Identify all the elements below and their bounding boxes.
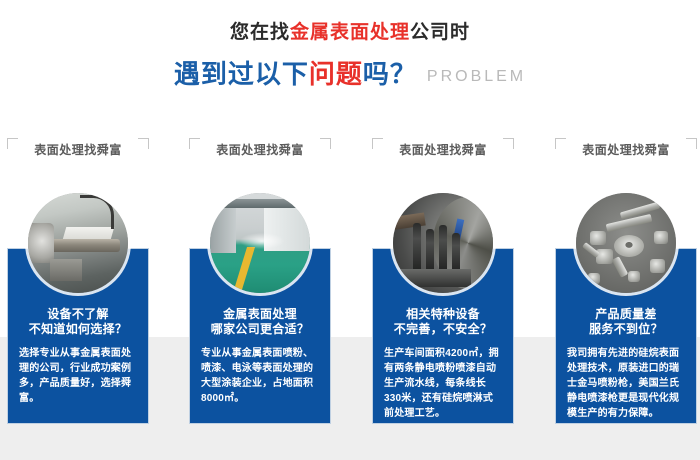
problem-card-row: 表面处理找舜富 设备不了解 不知道如何选择？ 选择专业从事金属表面处理的公司，行… (0, 136, 700, 436)
card-title: 相关特种设备 不完善，不安全？ (373, 307, 513, 337)
headline-line-2: 遇到过以下问题吗？PROBLEM (0, 57, 700, 96)
card-badge-label: 表面处理找舜富 (551, 141, 700, 158)
card-body-text: 生产车间面积4200㎡，拥有两条静电喷粉喷漆自动生产流水线，每条线长330米，还… (384, 346, 502, 421)
card-title-line-1: 相关特种设备 (373, 307, 513, 322)
page-headline: 您在找金属表面处理公司时 遇到过以下问题吗？PROBLEM (0, 18, 700, 96)
card-photo (393, 193, 493, 293)
card-badge: 表面处理找舜富 (3, 136, 153, 166)
headline-line1-highlight: 金属表面处理 (290, 22, 410, 43)
card-photo (576, 193, 676, 293)
card-title-line-2: 不知道如何选择？ (8, 322, 148, 337)
card-body-text: 专业从事金属表面喷粉、喷漆、电泳等表面处理的大型涂装企业，占地面积8000㎡。 (201, 346, 319, 406)
headline-line1-prefix: 您在找 (230, 22, 290, 43)
card-badge: 表面处理找舜富 (368, 136, 518, 166)
card-badge-label: 表面处理找舜富 (3, 141, 153, 158)
card-badge: 表面处理找舜富 (185, 136, 335, 166)
lathe-machining-photo (28, 193, 128, 293)
card-title-line-1: 产品质量差 (556, 307, 696, 322)
card-body-text: 选择专业从事金属表面处理的公司，行业成功案例多，产品质量好，选择舜富。 (19, 346, 137, 406)
card-photo (28, 193, 128, 293)
card-photo (210, 193, 310, 293)
card-badge-label: 表面处理找舜富 (368, 141, 518, 158)
card-title-line-1: 金属表面处理 (190, 307, 330, 322)
card-body-text: 我司拥有先进的硅烷表面处理技术，原装进口的瑞士金马喷粉枪，美国兰氏静电喷漆枪更是… (567, 346, 685, 421)
card-title: 产品质量差 服务不到位？ (556, 307, 696, 337)
card-title: 设备不了解 不知道如何选择？ (8, 307, 148, 337)
card-title-line-2: 不完善，不安全？ (373, 322, 513, 337)
card-badge-label: 表面处理找舜富 (185, 141, 335, 158)
problem-card[interactable]: 表面处理找舜富 相关特种设备 不完善，不安全？ 生产车间面积4200㎡，拥有两条… (366, 136, 520, 436)
card-title: 金属表面处理 哪家公司更合适？ (190, 307, 330, 337)
problem-card[interactable]: 表面处理找舜富 设备不了解 不知道如何选择？ 选择专业从事金属表面处理的公司，行… (1, 136, 155, 436)
metal-parts-equipment-photo (393, 193, 493, 293)
headline-english-label: PROBLEM (427, 68, 526, 85)
bolts-and-nuts-photo (576, 193, 676, 293)
headline-line2-prefix: 遇到过以下 (174, 59, 309, 89)
headline-line2-highlight: 问题 (309, 59, 363, 89)
headline-line2-suffix: 吗？ (363, 59, 417, 89)
card-title-line-2: 服务不到位？ (556, 322, 696, 337)
problem-card[interactable]: 表面处理找舜富 产品质量差 服务不到位？ 我司拥有先进的硅烷表面处理技术，原装进… (549, 136, 700, 436)
problem-card[interactable]: 表面处理找舜富 金属表面处理 哪家公司更合适？ 专业从事金属表面喷粉、喷漆、电泳… (183, 136, 337, 436)
headline-line1-suffix: 公司时 (410, 22, 470, 43)
card-title-line-1: 设备不了解 (8, 307, 148, 322)
factory-corridor-photo (210, 193, 310, 293)
headline-line-1: 您在找金属表面处理公司时 (0, 18, 700, 48)
card-badge: 表面处理找舜富 (551, 136, 700, 166)
card-title-line-2: 哪家公司更合适？ (190, 322, 330, 337)
